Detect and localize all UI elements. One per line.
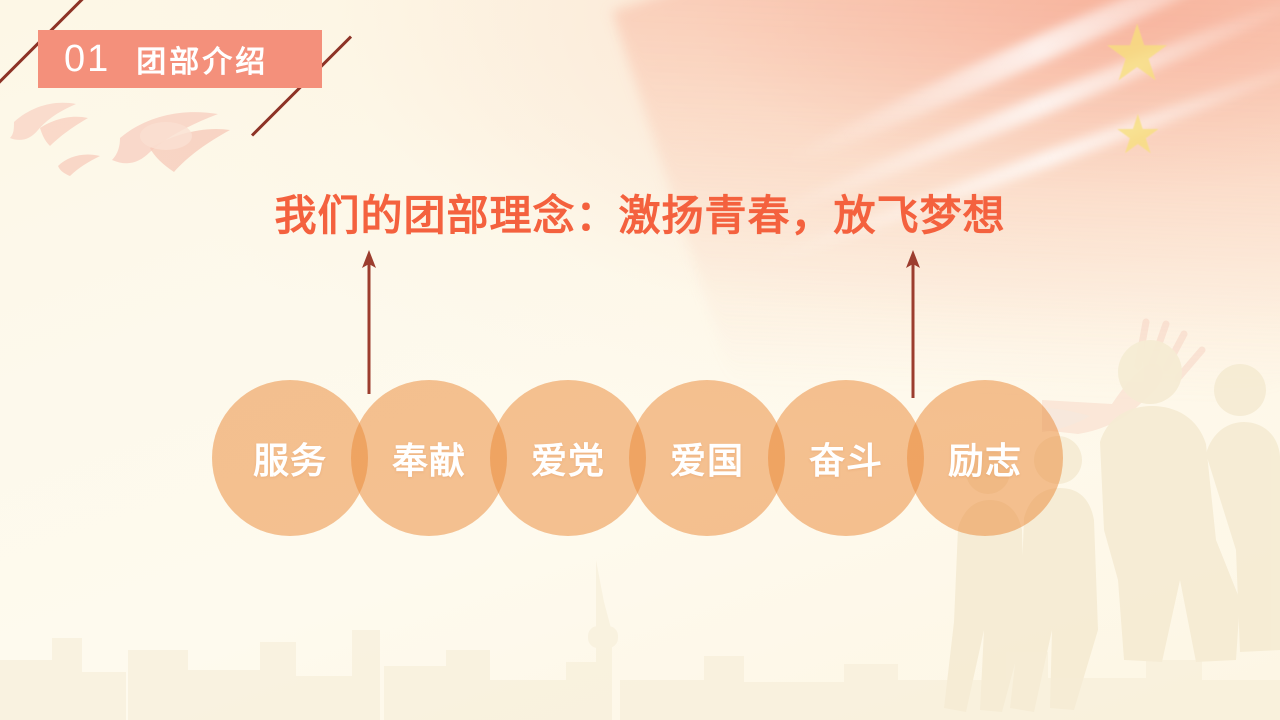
arrow-left-up [357, 248, 381, 394]
yellow-star-large: ★ [1102, 14, 1172, 92]
yellow-star-small: ★ [1114, 108, 1162, 162]
value-circle-label: 励志 [948, 432, 1022, 484]
value-circle-label: 爱国 [670, 432, 744, 484]
slide-canvas: ★ ★ [0, 0, 1280, 720]
section-badge[interactable]: 01 团部介绍 [38, 30, 322, 88]
city-skyline-silhouette [0, 530, 1280, 720]
value-circle-label: 奋斗 [809, 432, 883, 484]
values-circle-row: 服务 奉献 爱党 爱国 奋斗 励志 [0, 380, 1280, 540]
dove-icon [52, 146, 108, 182]
arrow-right-up [901, 248, 925, 398]
value-circle-2[interactable]: 奉献 [351, 380, 507, 536]
section-title: 团部介绍 [136, 37, 268, 81]
value-circle-label: 奉献 [392, 432, 466, 484]
value-circle-6[interactable]: 励志 [907, 380, 1063, 536]
section-number: 01 [64, 38, 110, 81]
dove-icon [96, 86, 256, 186]
page-title: 我们的团部理念：激扬青春，放飞梦想 [0, 182, 1280, 243]
value-circle-5[interactable]: 奋斗 [768, 380, 924, 536]
flag-streak-1 [779, 0, 1280, 175]
value-circle-1[interactable]: 服务 [212, 380, 368, 536]
value-circle-label: 爱党 [531, 432, 605, 484]
value-circle-4[interactable]: 爱国 [629, 380, 785, 536]
value-circle-3[interactable]: 爱党 [490, 380, 646, 536]
dove-icon [4, 78, 124, 156]
value-circle-label: 服务 [253, 432, 327, 484]
